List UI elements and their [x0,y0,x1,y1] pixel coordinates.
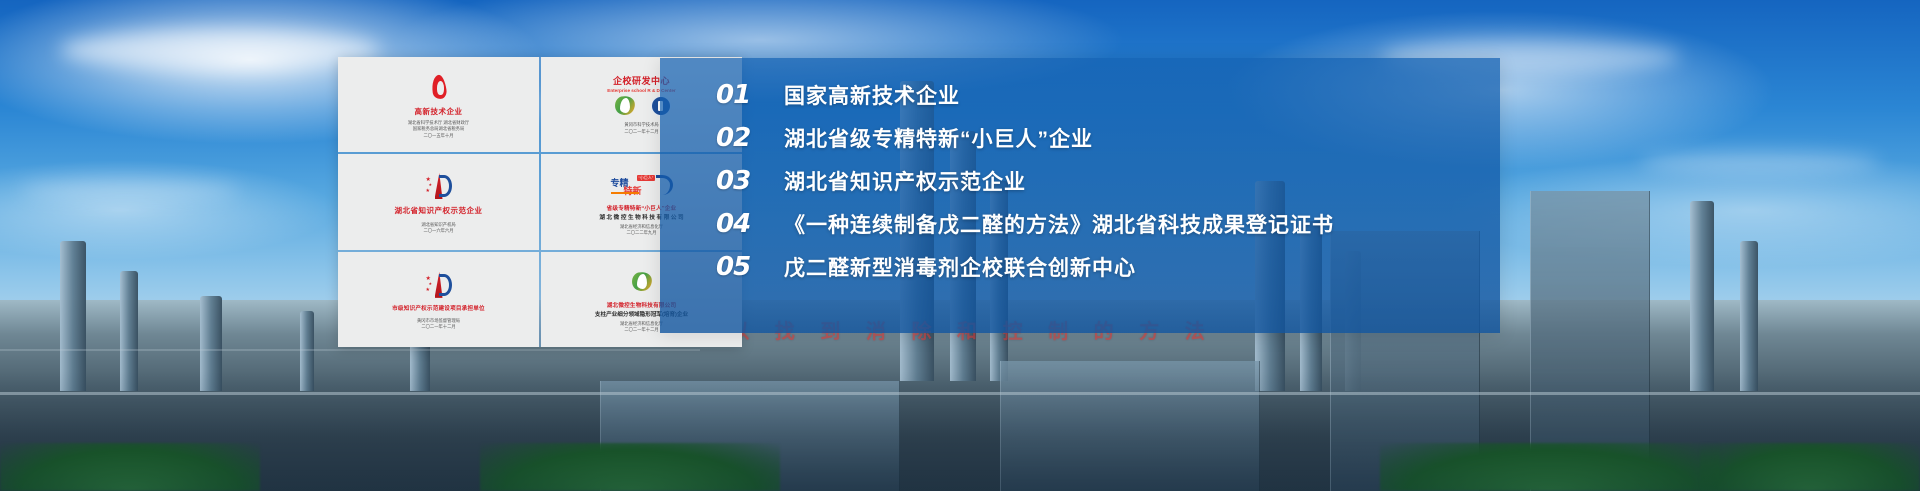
honor-item[interactable]: 02 湖北省级专精特新“小巨人”企业 [716,123,1490,153]
honor-number: 05 [716,252,756,282]
cloud-wisp [60,30,380,70]
plant-tower [60,241,86,391]
cloud-wisp [1640,150,1880,174]
honor-label: 湖北省级专精特新“小巨人”企业 [784,123,1093,153]
honor-label: 《一种连续制备戊二醛的方法》湖北省科技成果登记证书 [784,209,1334,239]
honor-number: 02 [716,123,756,153]
certificate-logo [428,70,450,104]
honor-number: 03 [716,166,756,196]
certificate-logo [630,265,654,299]
plant-tower [1690,201,1714,391]
plant-tower [1740,241,1758,391]
honor-item[interactable]: 04 《一种连续制备戊二醛的方法》湖北省科技成果登记证书 [716,209,1490,239]
green-swan-icon [613,95,637,117]
certificate-issuer: 湖北省经济和信息化厅 二〇二一年十二月 [620,321,663,334]
honor-item[interactable]: 03 湖北省知识产权示范企业 [716,166,1490,196]
certificate-issuer: 湖北省经济和信息化厅 二〇二二年九月 [620,224,663,237]
certificate-logo: ★★★ [426,268,452,302]
honor-number: 04 [716,209,756,239]
certificate-card[interactable]: ★★★ 市级知识产权示范建设项目承担单位 黄冈市市场监督管理局 二〇二一年十二月 [338,252,539,347]
honor-label: 国家高新技术企业 [784,80,960,110]
flame-icon [428,75,450,99]
certificate-title: 高新技术企业 [415,106,463,117]
certificate-issuer: 湖北省科学技术厅 湖北省财政厅 国家税务总局湖北省税务局 二〇一五年十月 [408,120,469,139]
honors-list: 01 国家高新技术企业 02 湖北省级专精特新“小巨人”企业 03 湖北省知识产… [716,80,1490,282]
green-swan-icon [630,271,654,293]
ip-sail-icon: ★★★ [426,272,452,298]
honor-item[interactable]: 01 国家高新技术企业 [716,80,1490,110]
cloud-wisp [20,180,240,200]
certificate-issuer: 黄冈市科学技术局 二〇二一年十二月 [624,122,658,135]
plant-pipe [0,349,700,351]
certificate-title: 市级知识产权示范建设项目承担单位 [392,304,485,312]
honors-panel: 01 国家高新技术企业 02 湖北省级专精特新“小巨人”企业 03 湖北省知识产… [660,58,1500,333]
ground-haze [0,371,1920,491]
honor-label: 湖北省知识产权示范企业 [784,166,1026,196]
certificate-card[interactable]: ★★★ 湖北省知识产权示范企业 湖北省知识产权局 二〇一六年六月 [338,154,539,249]
honor-number: 01 [716,80,756,110]
certificate-title: 湖北省知识产权示范企业 [395,205,483,216]
certificate-logo: ★★★ [426,169,452,203]
certificate-card[interactable]: 高新技术企业 湖北省科学技术厅 湖北省财政厅 国家税务总局湖北省税务局 二〇一五… [338,57,539,152]
certificate-issuer: 湖北省知识产权局 二〇一六年六月 [421,222,455,235]
honor-item[interactable]: 05 戊二醛新型消毒剂企校联合创新中心 [716,252,1490,282]
hero-banner: 全 隐 患 都 可 以 找 到 消 除 和 控 制 的 方 法 高新技术企业 湖… [0,0,1920,491]
certificate-issuer: 黄冈市市场监督管理局 二〇二一年十二月 [417,318,460,331]
ip-sail-icon: ★★★ [426,173,452,199]
honor-label: 戊二醛新型消毒剂企校联合创新中心 [784,252,1136,282]
